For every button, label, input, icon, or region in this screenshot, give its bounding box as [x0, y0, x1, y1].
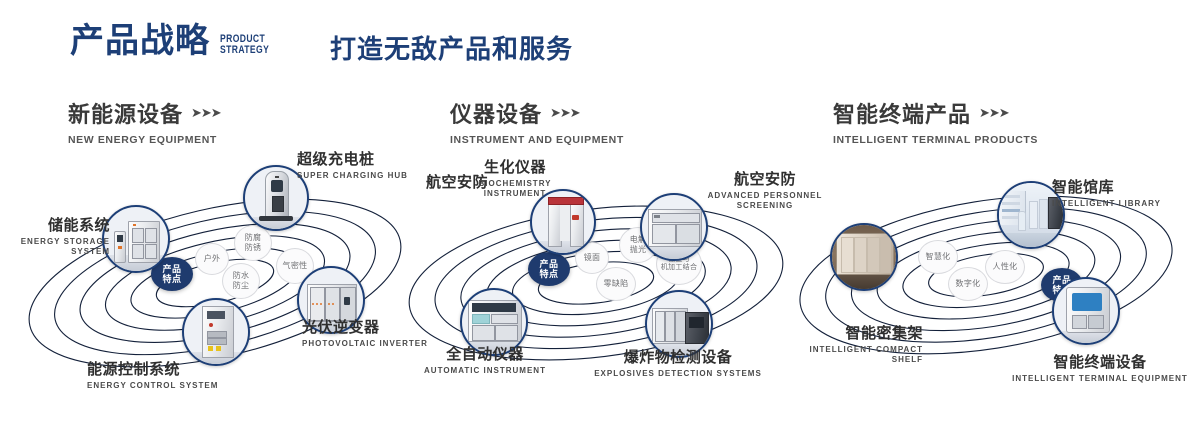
terminal-equipment-photo [1054, 279, 1118, 343]
label-biochemistry-instrument: 生化仪器 BIOCHEMISTRY INSTRUMENT [455, 160, 575, 199]
product-node-personnel-screening[interactable] [640, 193, 708, 261]
label-cn: 超级充电桩 [297, 152, 408, 169]
section-title-cn: 智能终端产品 [833, 97, 971, 129]
core-line2: 特点 [162, 274, 181, 284]
product-node-terminal-equipment[interactable] [1052, 277, 1120, 345]
compact-shelf-photo [832, 225, 896, 289]
label-en: INTELLIGENT LIBRARY [1052, 199, 1161, 209]
label-cn: 储能系统 [0, 218, 110, 235]
page-title-en: PRODUCT STRATEGY [220, 34, 269, 56]
product-node-compact-shelf[interactable] [830, 223, 898, 291]
chevrons-icon: ➤➤➤ [979, 105, 1009, 121]
product-node-explosives-detection[interactable] [645, 290, 713, 358]
screening-photo [642, 195, 706, 259]
label-en: ENERGY CONTROL SYSTEM [87, 381, 218, 391]
label-cn: 全自动仪器 [400, 347, 570, 364]
section-header-instrument: 仪器设备➤➤➤ INSTRUMENT AND EQUIPMENT [450, 97, 624, 146]
page-title: 产品战略 PRODUCT STRATEGY [70, 24, 283, 58]
feature-bubble: 数字化 [948, 267, 988, 301]
label-en: AUTOMATIC INSTRUMENT [400, 366, 570, 376]
label-en: INTELLIGENT COMPACT SHELF [793, 345, 923, 365]
core-line2: 特点 [539, 269, 558, 279]
label-cn: 智能密集架 [793, 326, 923, 343]
label-cn: 智能终端设备 [1005, 355, 1195, 372]
explosives-detection-photo [647, 292, 711, 356]
core-badge: 产品 特点 [528, 252, 570, 286]
product-node-biochemistry-instrument[interactable] [530, 189, 596, 255]
label-super-charging-hub: 超级充电桩 SUPER CHARGING HUB [297, 152, 408, 181]
feature-bubble: 防水 防尘 [222, 263, 260, 299]
label-energy-storage: 储能系统 ENERGY STORAGE SYSTEM [0, 218, 110, 257]
section-title-en: NEW ENERGY EQUIPMENT [68, 134, 221, 146]
label-cn: 智能馆库 [1052, 180, 1161, 197]
poster-canvas: 产品战略 PRODUCT STRATEGY 打造无敌产品和服务 新能源设备➤➤➤… [0, 0, 1200, 422]
page-title-en-line2: STRATEGY [220, 45, 269, 56]
section-header-intelligent-terminal: 智能终端产品➤➤➤ INTELLIGENT TERMINAL PRODUCTS [833, 97, 1038, 146]
label-en: ENERGY STORAGE SYSTEM [0, 237, 110, 257]
feature-bubble: 人性化 [985, 250, 1025, 284]
bubble-line1: 数字化 [956, 279, 981, 289]
section-title-cn: 仪器设备 [450, 97, 542, 129]
label-intelligent-library: 智能馆库 INTELLIGENT LIBRARY [1052, 180, 1161, 209]
label-en: INTELLIGENT TERMINAL EQUIPMENT [1005, 374, 1195, 384]
feature-bubble: 智慧化 [918, 240, 958, 274]
product-node-energy-storage[interactable] [102, 205, 170, 273]
product-node-energy-control[interactable] [182, 298, 250, 366]
section-title-en: INSTRUMENT AND EQUIPMENT [450, 134, 624, 146]
bubble-line2: 防尘 [233, 281, 250, 291]
label-terminal-equipment: 智能终端设备 INTELLIGENT TERMINAL EQUIPMENT [1005, 355, 1195, 384]
label-energy-control: 能源控制系统 ENERGY CONTROL SYSTEM [87, 362, 218, 391]
bubble-line1: 智慧化 [926, 252, 951, 262]
label-cn: 能源控制系统 [87, 362, 218, 379]
label-automatic-instrument: 全自动仪器 AUTOMATIC INSTRUMENT [400, 347, 570, 376]
bubble-line2: 防锈 [245, 243, 262, 253]
bubble-line2: 机加工结合 [661, 264, 698, 272]
energy-storage-photo [104, 207, 168, 271]
energy-control-photo [184, 300, 248, 364]
bubble-line1: 零缺陷 [604, 279, 629, 289]
bubble-line1: 防腐 [245, 233, 262, 243]
section-header-new-energy: 新能源设备➤➤➤ NEW ENERGY EQUIPMENT [68, 97, 221, 146]
page-title-cn: 产品战略 [70, 24, 210, 58]
section-title-en: INTELLIGENT TERMINAL PRODUCTS [833, 134, 1038, 146]
chevrons-icon: ➤➤➤ [550, 105, 580, 121]
label-cn: 生化仪器 [455, 160, 575, 177]
biochem-instrument-photo [532, 191, 594, 253]
feature-bubble: 防腐 防锈 [234, 225, 272, 261]
label-en: EXPLOSIVES DETECTION SYSTEMS [578, 369, 778, 379]
bubble-line1: 防水 [233, 271, 250, 281]
label-compact-shelf: 智能密集架 INTELLIGENT COMPACT SHELF [793, 326, 923, 365]
label-en: SUPER CHARGING HUB [297, 171, 408, 181]
automatic-instrument-photo [462, 290, 526, 354]
feature-bubble: 零缺陷 [596, 267, 636, 301]
bubble-line1: 户外 [204, 254, 221, 264]
page-subtitle: 打造无敌产品和服务 [330, 36, 573, 62]
chevrons-icon: ➤➤➤ [191, 105, 221, 121]
bubble-line1: 镜面 [584, 253, 601, 263]
label-explosives-detection: 爆炸物检测设备 EXPLOSIVES DETECTION SYSTEMS [578, 350, 778, 379]
label-en: BIOCHEMISTRY INSTRUMENT [455, 179, 575, 199]
label-cn: 爆炸物检测设备 [578, 350, 778, 367]
bubble-line1: 人性化 [993, 262, 1018, 272]
feature-bubble: 户外 [195, 243, 229, 275]
section-title-cn: 新能源设备 [68, 97, 183, 129]
core-line1: 产品 [539, 259, 558, 269]
